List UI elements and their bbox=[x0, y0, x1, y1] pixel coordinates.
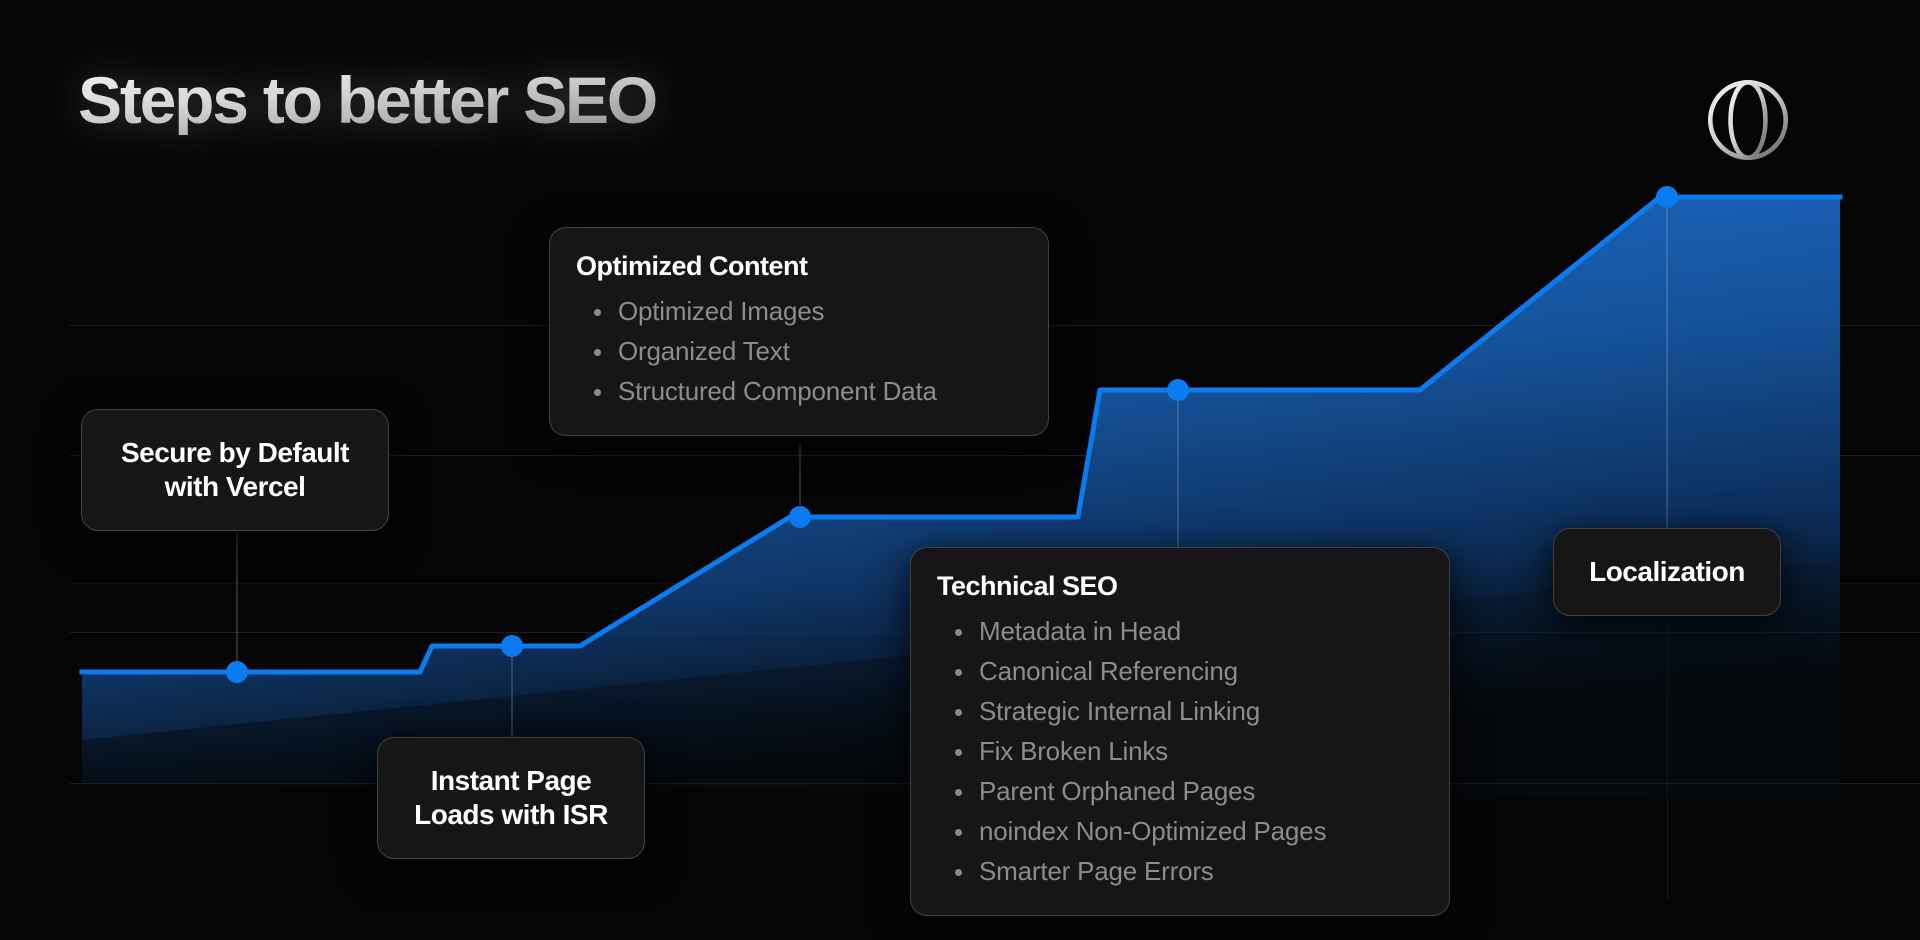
page-title: Steps to better SEO bbox=[78, 66, 656, 135]
card-technical-seo[interactable]: Technical SEO Metadata in Head Canonical… bbox=[910, 547, 1450, 916]
data-point-dot[interactable] bbox=[501, 635, 523, 657]
list-item: Strategic Internal Linking bbox=[937, 691, 1423, 731]
card-secure-by-default[interactable]: Secure by Default with Vercel bbox=[81, 409, 389, 531]
list-item: Structured Component Data bbox=[576, 371, 1022, 411]
data-point-dot[interactable] bbox=[1656, 186, 1678, 208]
card-title: Technical SEO bbox=[937, 570, 1423, 603]
data-point-dot[interactable] bbox=[226, 661, 248, 683]
card-title: Localization bbox=[1584, 555, 1750, 589]
list-item: Metadata in Head bbox=[937, 611, 1423, 651]
card-optimized-content[interactable]: Optimized Content Optimized Images Organ… bbox=[549, 227, 1049, 436]
globe-icon bbox=[1702, 74, 1794, 166]
data-point-dot[interactable] bbox=[1167, 379, 1189, 401]
card-title: Optimized Content bbox=[576, 250, 1022, 283]
card-title: Secure by Default with Vercel bbox=[112, 436, 358, 504]
list-item: Fix Broken Links bbox=[937, 731, 1423, 771]
leader-line-localization bbox=[1667, 197, 1668, 530]
list-item: Organized Text bbox=[576, 331, 1022, 371]
list-item: Parent Orphaned Pages bbox=[937, 771, 1423, 811]
list-item: Smarter Page Errors bbox=[937, 851, 1423, 891]
card-instant-page-loads[interactable]: Instant Page Loads with ISR bbox=[377, 737, 645, 859]
data-point-dot[interactable] bbox=[789, 506, 811, 528]
list-item: Optimized Images bbox=[576, 291, 1022, 331]
card-localization[interactable]: Localization bbox=[1553, 528, 1781, 616]
list-item: noindex Non-Optimized Pages bbox=[937, 811, 1423, 851]
seo-steps-infographic: Steps to better SEO bbox=[0, 0, 1920, 940]
leader-line-secure bbox=[237, 530, 238, 672]
list-item: Canonical Referencing bbox=[937, 651, 1423, 691]
card-list: Metadata in Head Canonical Referencing S… bbox=[937, 611, 1423, 891]
leader-line-technical bbox=[1178, 390, 1179, 548]
leader-line-isr bbox=[512, 646, 513, 746]
card-title: Instant Page Loads with ISR bbox=[408, 764, 614, 832]
card-list: Optimized Images Organized Text Structur… bbox=[576, 291, 1022, 411]
